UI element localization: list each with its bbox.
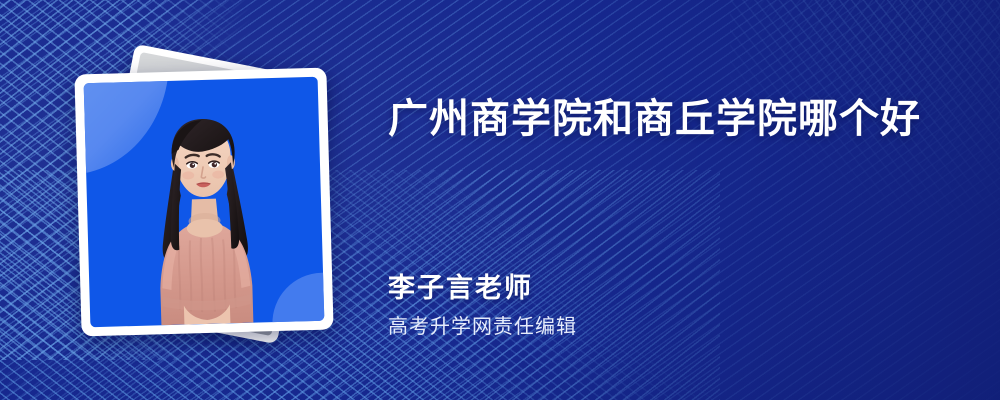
photo-card-front — [74, 68, 333, 337]
editor-role: 高考升学网责任编辑 — [388, 315, 718, 340]
byline: 李子言老师 高考升学网责任编辑 — [388, 272, 718, 340]
photo-card-stack — [70, 55, 370, 355]
editor-name: 李子言老师 — [388, 272, 718, 306]
promo-banner: 广州商学院和商丘学院哪个好 李子言老师 高考升学网责任编辑 — [0, 0, 1000, 400]
page-title: 广州商学院和商丘学院哪个好 — [388, 96, 921, 143]
editor-photo — [84, 77, 325, 327]
portrait-illustration — [126, 107, 282, 326]
